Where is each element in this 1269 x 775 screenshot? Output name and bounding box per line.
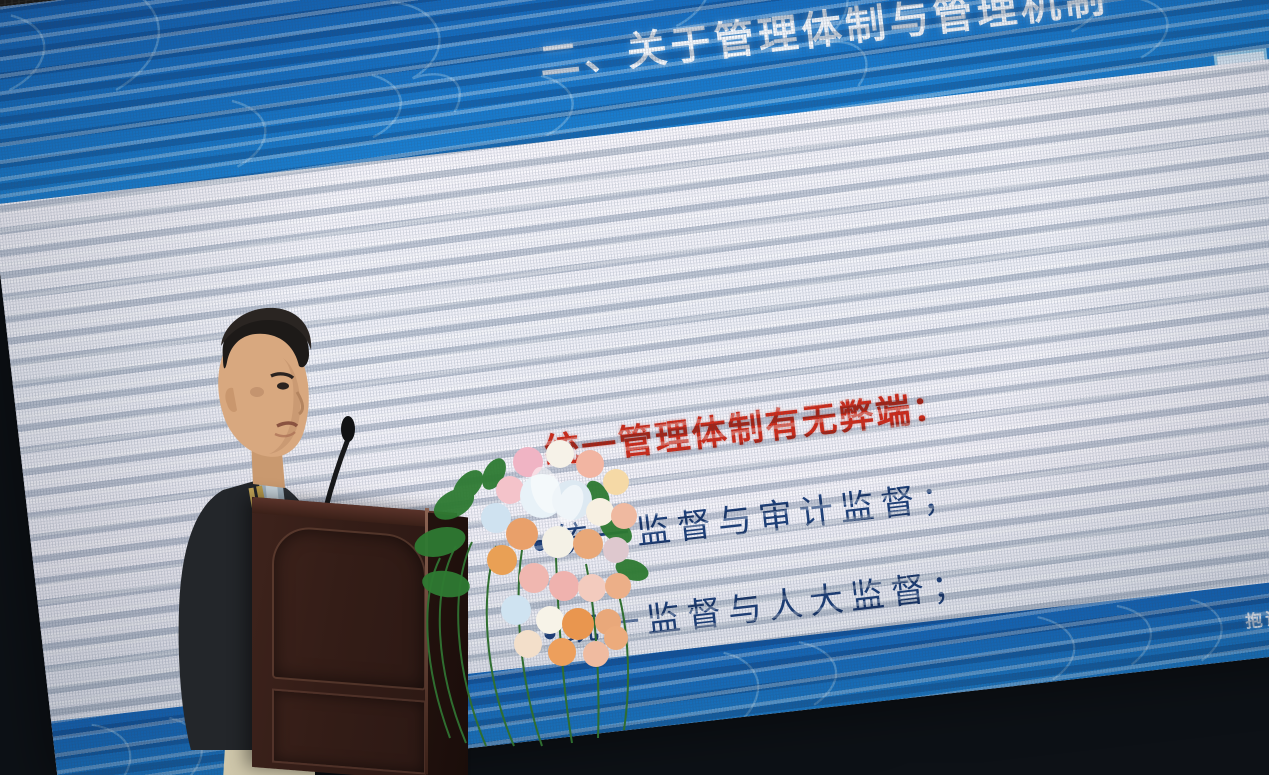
podium-lower-panel — [272, 689, 426, 775]
podium-front-panel — [272, 525, 426, 691]
floral-arrangement — [410, 438, 660, 748]
screenshot-root: 二、关于管理体制与管理机制 统一管理体制有无弊端： — [0, 0, 1269, 775]
